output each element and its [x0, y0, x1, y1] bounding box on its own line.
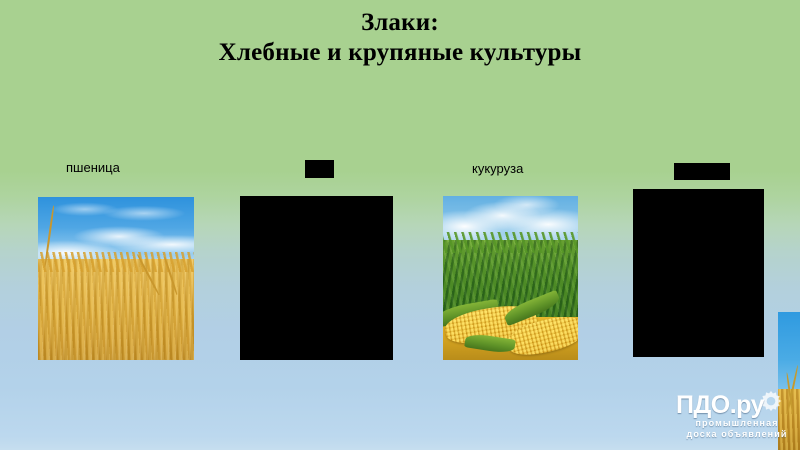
redacted-photo-2: [240, 196, 393, 360]
watermark-tagline-2: доска объявлений: [680, 429, 794, 439]
redacted-photo-4: [633, 189, 764, 357]
crop-label-wheat: пшеница: [66, 160, 120, 176]
corn-field-photo: [443, 196, 578, 360]
wheat-field-photo: [38, 197, 194, 360]
edge-decoration-strip: [778, 312, 800, 450]
crop-label-redacted-2: [305, 160, 334, 178]
crop-label-corn: кукуруза: [472, 161, 523, 177]
slide-canvas: Злаки: Хлебные и крупяные культуры пшени…: [0, 0, 800, 450]
watermark-tagline-1: промышленная: [680, 418, 794, 428]
watermark: ПДО.ру промышленная доска объявлений: [676, 388, 794, 446]
watermark-brand: ПДО.ру: [676, 392, 794, 418]
crop-label-redacted-4: [674, 163, 730, 180]
title-line-2: Хлебные и крупяные культуры: [0, 38, 800, 68]
title-line-1: Злаки:: [0, 8, 800, 38]
page-title: Злаки: Хлебные и крупяные культуры: [0, 8, 800, 67]
